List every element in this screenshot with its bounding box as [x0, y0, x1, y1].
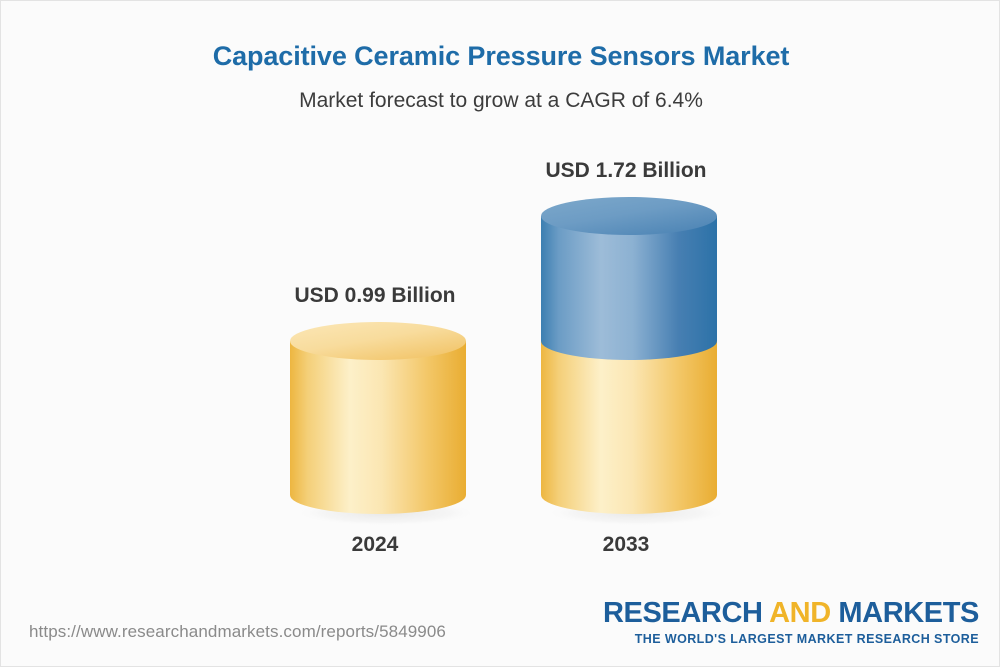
- brand-logo[interactable]: RESEARCH AND MARKETS THE WORLD'S LARGEST…: [603, 599, 979, 646]
- value-label-2024: USD 0.99 Billion: [275, 284, 475, 308]
- category-label-2033: 2033: [526, 533, 726, 557]
- category-label-2024: 2024: [275, 533, 475, 557]
- logo-word-and: AND: [769, 597, 831, 629]
- value-label-2033: USD 1.72 Billion: [526, 159, 726, 183]
- bar-cylinder-2024: [283, 323, 473, 533]
- bar-body-blue-growth: [541, 216, 717, 360]
- logo-wordmark: RESEARCH AND MARKETS: [603, 599, 979, 628]
- report-url[interactable]: https://www.researchandmarkets.com/repor…: [29, 622, 446, 642]
- bar-body-yellow-base: [541, 341, 717, 514]
- chart-subtitle: Market forecast to grow at a CAGR of 6.4…: [1, 89, 1000, 113]
- bar-cylinder-2033: [534, 198, 724, 533]
- logo-tagline: THE WORLD'S LARGEST MARKET RESEARCH STOR…: [603, 633, 979, 646]
- bar-body-yellow: [290, 341, 466, 514]
- page-title: Capacitive Ceramic Pressure Sensors Mark…: [1, 41, 1000, 72]
- bar-top-blue: [541, 197, 717, 235]
- chart-canvas: Capacitive Ceramic Pressure Sensors Mark…: [0, 0, 1000, 667]
- logo-word-markets: MARKETS: [831, 597, 979, 629]
- logo-word-research: RESEARCH: [603, 597, 769, 629]
- bar-top-yellow: [290, 322, 466, 360]
